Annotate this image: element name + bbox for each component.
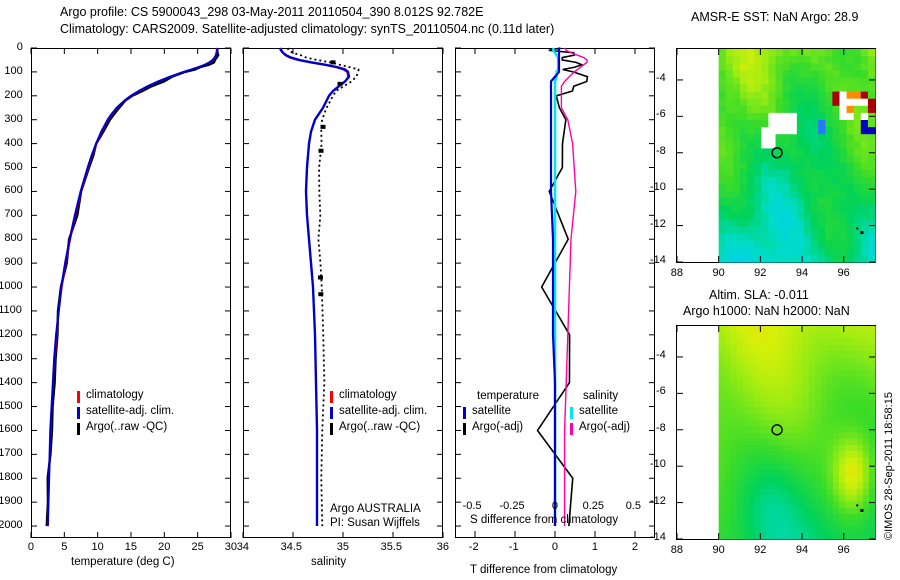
x-tick-label: 15: [125, 541, 137, 553]
x-tick-label: 34.5: [281, 541, 302, 553]
map-y-tick-label: -8: [656, 422, 666, 434]
legend-label-satellite: satellite-adj. clim.: [86, 405, 174, 417]
legend-swatch-argo: [330, 423, 333, 435]
depth-tick-label: 400: [4, 137, 22, 149]
plot-title-line2: Climatology: CARS2009. Satellite-adjuste…: [60, 22, 554, 36]
x-tick-label: 35.5: [381, 541, 402, 553]
legend-label-temperature-argo: Argo(-adj): [472, 421, 523, 433]
depth-tick-label: 700: [4, 208, 22, 220]
map-y-tick-label: -6: [656, 108, 666, 120]
map-x-tick-label: 94: [796, 267, 808, 279]
difference-legend-salinity-header: salinity: [583, 390, 618, 402]
s-difference-tick-label: -0.25: [500, 500, 525, 512]
x-tick-label: 20: [158, 541, 170, 553]
difference-plot-canvas: [455, 48, 655, 538]
sst-map-title: AMSR-E SST: NaN Argo: 28.9: [691, 10, 858, 24]
depth-tick-label: 2000: [0, 519, 23, 531]
legend-swatch-climatology: [330, 391, 333, 403]
depth-tick-label: 1500: [0, 400, 23, 412]
sla-map-ticks: [676, 325, 878, 542]
difference-legend-temperature-header: temperature: [477, 390, 539, 402]
x-tick-label: 0: [28, 541, 34, 553]
map-x-tick-label: 96: [838, 544, 850, 556]
legend-swatch-satellite: [77, 407, 80, 419]
depth-tick-label: 1200: [0, 328, 23, 340]
depth-tick-label: 300: [4, 113, 22, 125]
map-x-tick-label: 88: [671, 544, 683, 556]
map-x-tick-label: 96: [838, 267, 850, 279]
temperature-plot-canvas: [31, 48, 231, 538]
t-difference-tick-label: -1: [509, 541, 519, 553]
sla-map-title-line2: Argo h1000: NaN h2000: NaN: [683, 304, 850, 318]
map-x-tick-label: 92: [754, 267, 766, 279]
x-tick-label: 36: [437, 541, 449, 553]
depth-tick-label: 1600: [0, 423, 23, 435]
depth-tick-label: 1400: [0, 376, 23, 388]
map-y-tick-label: -8: [656, 145, 666, 157]
map-x-tick-label: 90: [712, 544, 724, 556]
x-tick-label: 5: [61, 541, 67, 553]
legend-label-satellite: satellite-adj. clim.: [339, 405, 427, 417]
salinity-axis-label: salinity: [311, 556, 346, 568]
copyright-label: ©IMOS 28-Sep-2011 18:58:15: [883, 392, 895, 540]
depth-tick-label: 1100: [0, 304, 22, 316]
map-x-tick-label: 94: [796, 544, 808, 556]
depth-tick-label: 1800: [0, 471, 23, 483]
depth-tick-label: 1900: [0, 495, 23, 507]
t-difference-tick-label: 1: [592, 541, 598, 553]
depth-tick-label: 1000: [0, 280, 23, 292]
legend-label-climatology: climatology: [339, 389, 397, 401]
s-difference-axis-label: S difference from climatology: [470, 514, 618, 526]
legend-swatch-climatology: [77, 391, 80, 403]
s-difference-tick-label: 0.25: [583, 500, 604, 512]
legend-label-salinity-satellite: satellite: [579, 405, 618, 417]
t-difference-tick-label: 0: [552, 541, 558, 553]
legend-swatch-temperature-argo: [463, 423, 466, 435]
x-tick-label: 35: [337, 541, 349, 553]
map-y-tick-label: -12: [650, 495, 666, 507]
map-y-tick-label: -12: [650, 218, 666, 230]
plot-title-line1: Argo profile: CS 5900043_298 03-May-2011…: [60, 5, 483, 19]
map-y-tick-label: -4: [656, 72, 666, 84]
s-difference-tick-label: -0.5: [463, 500, 482, 512]
map-y-tick-label: -6: [656, 385, 666, 397]
x-tick-label: 10: [91, 541, 103, 553]
map-y-tick-label: -10: [650, 181, 666, 193]
sst-map-ticks: [676, 48, 878, 265]
x-tick-label: 34: [237, 541, 249, 553]
argo-program-note: Argo AUSTRALIA: [330, 503, 421, 515]
s-difference-tick-label: 0.5: [626, 500, 641, 512]
depth-tick-label: 600: [4, 184, 22, 196]
depth-tick-label: 500: [4, 161, 22, 173]
t-difference-axis-label: T difference from climatology: [470, 564, 617, 576]
map-x-tick-label: 88: [671, 267, 683, 279]
s-difference-tick-label: 0: [552, 500, 558, 512]
map-y-tick-label: -4: [656, 349, 666, 361]
map-y-tick-label: -14: [650, 531, 666, 543]
salinity-plot-canvas: [243, 48, 443, 538]
depth-tick-label: 900: [4, 256, 22, 268]
legend-swatch-argo: [77, 423, 80, 435]
map-x-tick-label: 92: [754, 544, 766, 556]
depth-tick-label: 1700: [0, 447, 23, 459]
t-difference-tick-label: -2: [469, 541, 479, 553]
legend-label-salinity-argo: Argo(-adj): [579, 421, 630, 433]
argo-pi-note: PI: Susan Wijffels: [330, 517, 420, 529]
legend-label-climatology: climatology: [86, 389, 144, 401]
depth-tick-label: 200: [4, 89, 22, 101]
sla-map-title-line1: Altim. SLA: -0.011: [709, 288, 809, 302]
legend-swatch-salinity-argo: [570, 423, 573, 435]
x-tick-label: 25: [191, 541, 203, 553]
t-difference-tick-label: 2: [632, 541, 638, 553]
map-x-tick-label: 90: [712, 267, 724, 279]
depth-tick-label: 1300: [0, 352, 23, 364]
depth-tick-label: 0: [17, 41, 23, 53]
legend-label-argo: Argo(..raw -QC): [86, 421, 167, 433]
temperature-axis-label: temperature (deg C): [71, 556, 175, 568]
legend-swatch-temperature-satellite: [463, 407, 466, 419]
legend-swatch-salinity-satellite: [570, 407, 573, 419]
legend-label-temperature-satellite: satellite: [472, 405, 511, 417]
legend-swatch-satellite: [330, 407, 333, 419]
legend-label-argo: Argo(..raw -QC): [339, 421, 420, 433]
depth-tick-label: 100: [4, 65, 22, 77]
x-tick-label: 30: [225, 541, 237, 553]
map-y-tick-label: -14: [650, 254, 666, 266]
depth-tick-label: 800: [4, 232, 22, 244]
map-y-tick-label: -10: [650, 458, 666, 470]
